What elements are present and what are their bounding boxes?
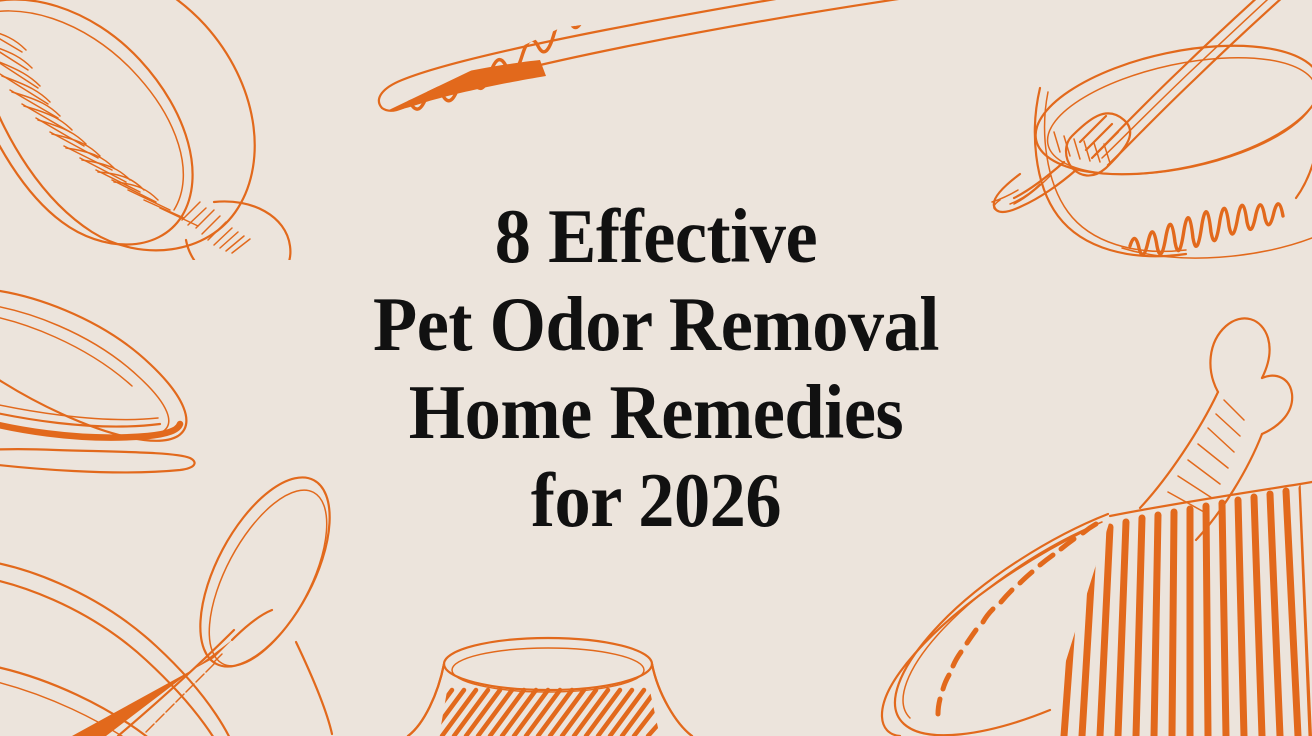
poster-canvas: .ln { fill:none; stroke:#e2691c; stroke-…: [0, 0, 1312, 736]
jar-icon: [408, 638, 692, 736]
title-line-1: 8 Effective: [39, 192, 1272, 280]
title-line-2: Pet Odor Removal: [39, 280, 1272, 368]
title-line-4: for 2026: [39, 456, 1272, 544]
paintbrush-icon: [992, 0, 1284, 212]
page-title: 8 Effective Pet Odor Removal Home Remedi…: [0, 192, 1312, 544]
plate-icon: [0, 558, 240, 736]
title-line-3: Home Remedies: [39, 368, 1272, 456]
rolling-pin-icon: [379, 0, 1070, 111]
